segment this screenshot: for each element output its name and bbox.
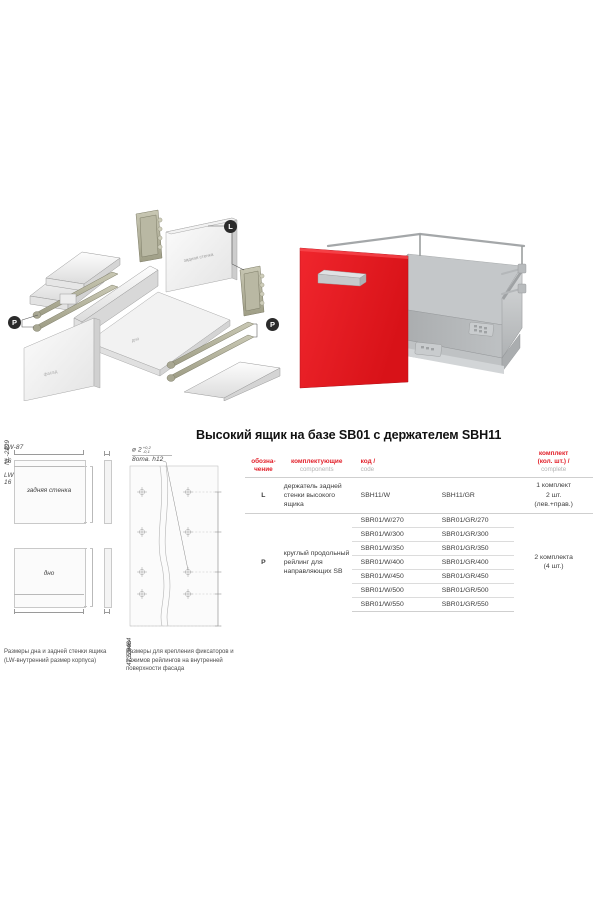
cell-code-w: SBR01/W/270 [352,513,433,527]
cell-complete-l: 1 комплект 2 шт. (лев.+прав.) [514,478,593,513]
cell-component-p: круглый продольный рейлинг для направляю… [282,513,352,611]
cell-code-gr: SBR01/GR/350 [433,541,515,555]
callout-bubble-l: L [224,220,237,233]
cell-code-w: SBR01/W/400 [352,555,433,569]
hole-pattern-drawing: ø 2+0,2-0,1 8отв. h12 64 64 32 47,5 min [126,444,244,640]
cell-code-w-l: SBH11/W [352,478,433,513]
dim-lw87: LW-87 [4,444,122,451]
holes-count-note: 8отв. h12 [132,456,163,463]
hole-drawing-caption: Размеры для крепления фиксаторов и зажим… [126,648,250,674]
cell-code-w: SBR01/W/300 [352,527,433,541]
header-components: комплектующие components [282,450,352,478]
cell-code-gr: SBR01/GR/270 [433,513,515,527]
header-complete: комплект (кол. шт.) / complete [514,450,593,478]
product-3d-render [288,222,588,408]
cell-code-w: SBR01/W/450 [352,569,433,583]
cell-code-gr: SBR01/GR/450 [433,569,515,583]
dim-nl24: NL-24 [4,347,11,465]
cell-code-gr: SBR01/GR/300 [433,527,515,541]
cell-code-gr: SBR01/GR/550 [433,597,515,611]
callout-bubble-p-right: P [266,318,279,331]
label-back-wall: задняя стенка [14,487,84,494]
table-header-row: обозна- чение комплектующие components к… [245,450,593,478]
cell-component-l: держатель задней стенки высокого ящика [282,478,352,513]
cell-code-gr-l: SBH11/GR [433,478,515,513]
label-bottom: дно [14,570,84,577]
table-row: L держатель задней стенки высокого ящика… [245,478,593,513]
document-page: задняя стенка дно [0,0,600,900]
table-row: P круглый продольный рейлинг для направл… [245,513,593,527]
specification-table: обозна- чение комплектующие components к… [245,450,593,612]
cell-code-gr: SBR01/GR/400 [433,555,515,569]
cell-code-gr: SBR01/GR/500 [433,583,515,597]
cell-mark-p: P [245,513,282,611]
hole-diameter-note: ø 2+0,2-0,1 8отв. h12 [132,446,163,461]
cell-mark-l: L [245,478,282,513]
panel-dimensions-drawing: LW-87 задняя стенка 199 16 дно NL-24 LW-… [4,444,122,640]
cell-code-w: SBR01/W/550 [352,597,433,611]
header-mark: обозна- чение [245,450,282,478]
header-code: код / code [352,450,515,478]
page-title: Высокий ящик на базе SB01 с держателем S… [196,428,501,442]
callout-bubble-p-left: P [8,316,21,329]
cell-complete-p: 2 комплекта (4 шт.) [514,513,593,611]
cell-code-w: SBR01/W/500 [352,583,433,597]
panel-drawing-caption: Размеры дна и задней стенки ящика (LW-вн… [4,648,116,665]
dia-value: ø 2 [132,447,142,454]
cell-code-w: SBR01/W/350 [352,541,433,555]
dia-tol-lower: -0,1 [143,450,151,454]
exploded-assembly-diagram: задняя стенка дно [8,196,290,401]
